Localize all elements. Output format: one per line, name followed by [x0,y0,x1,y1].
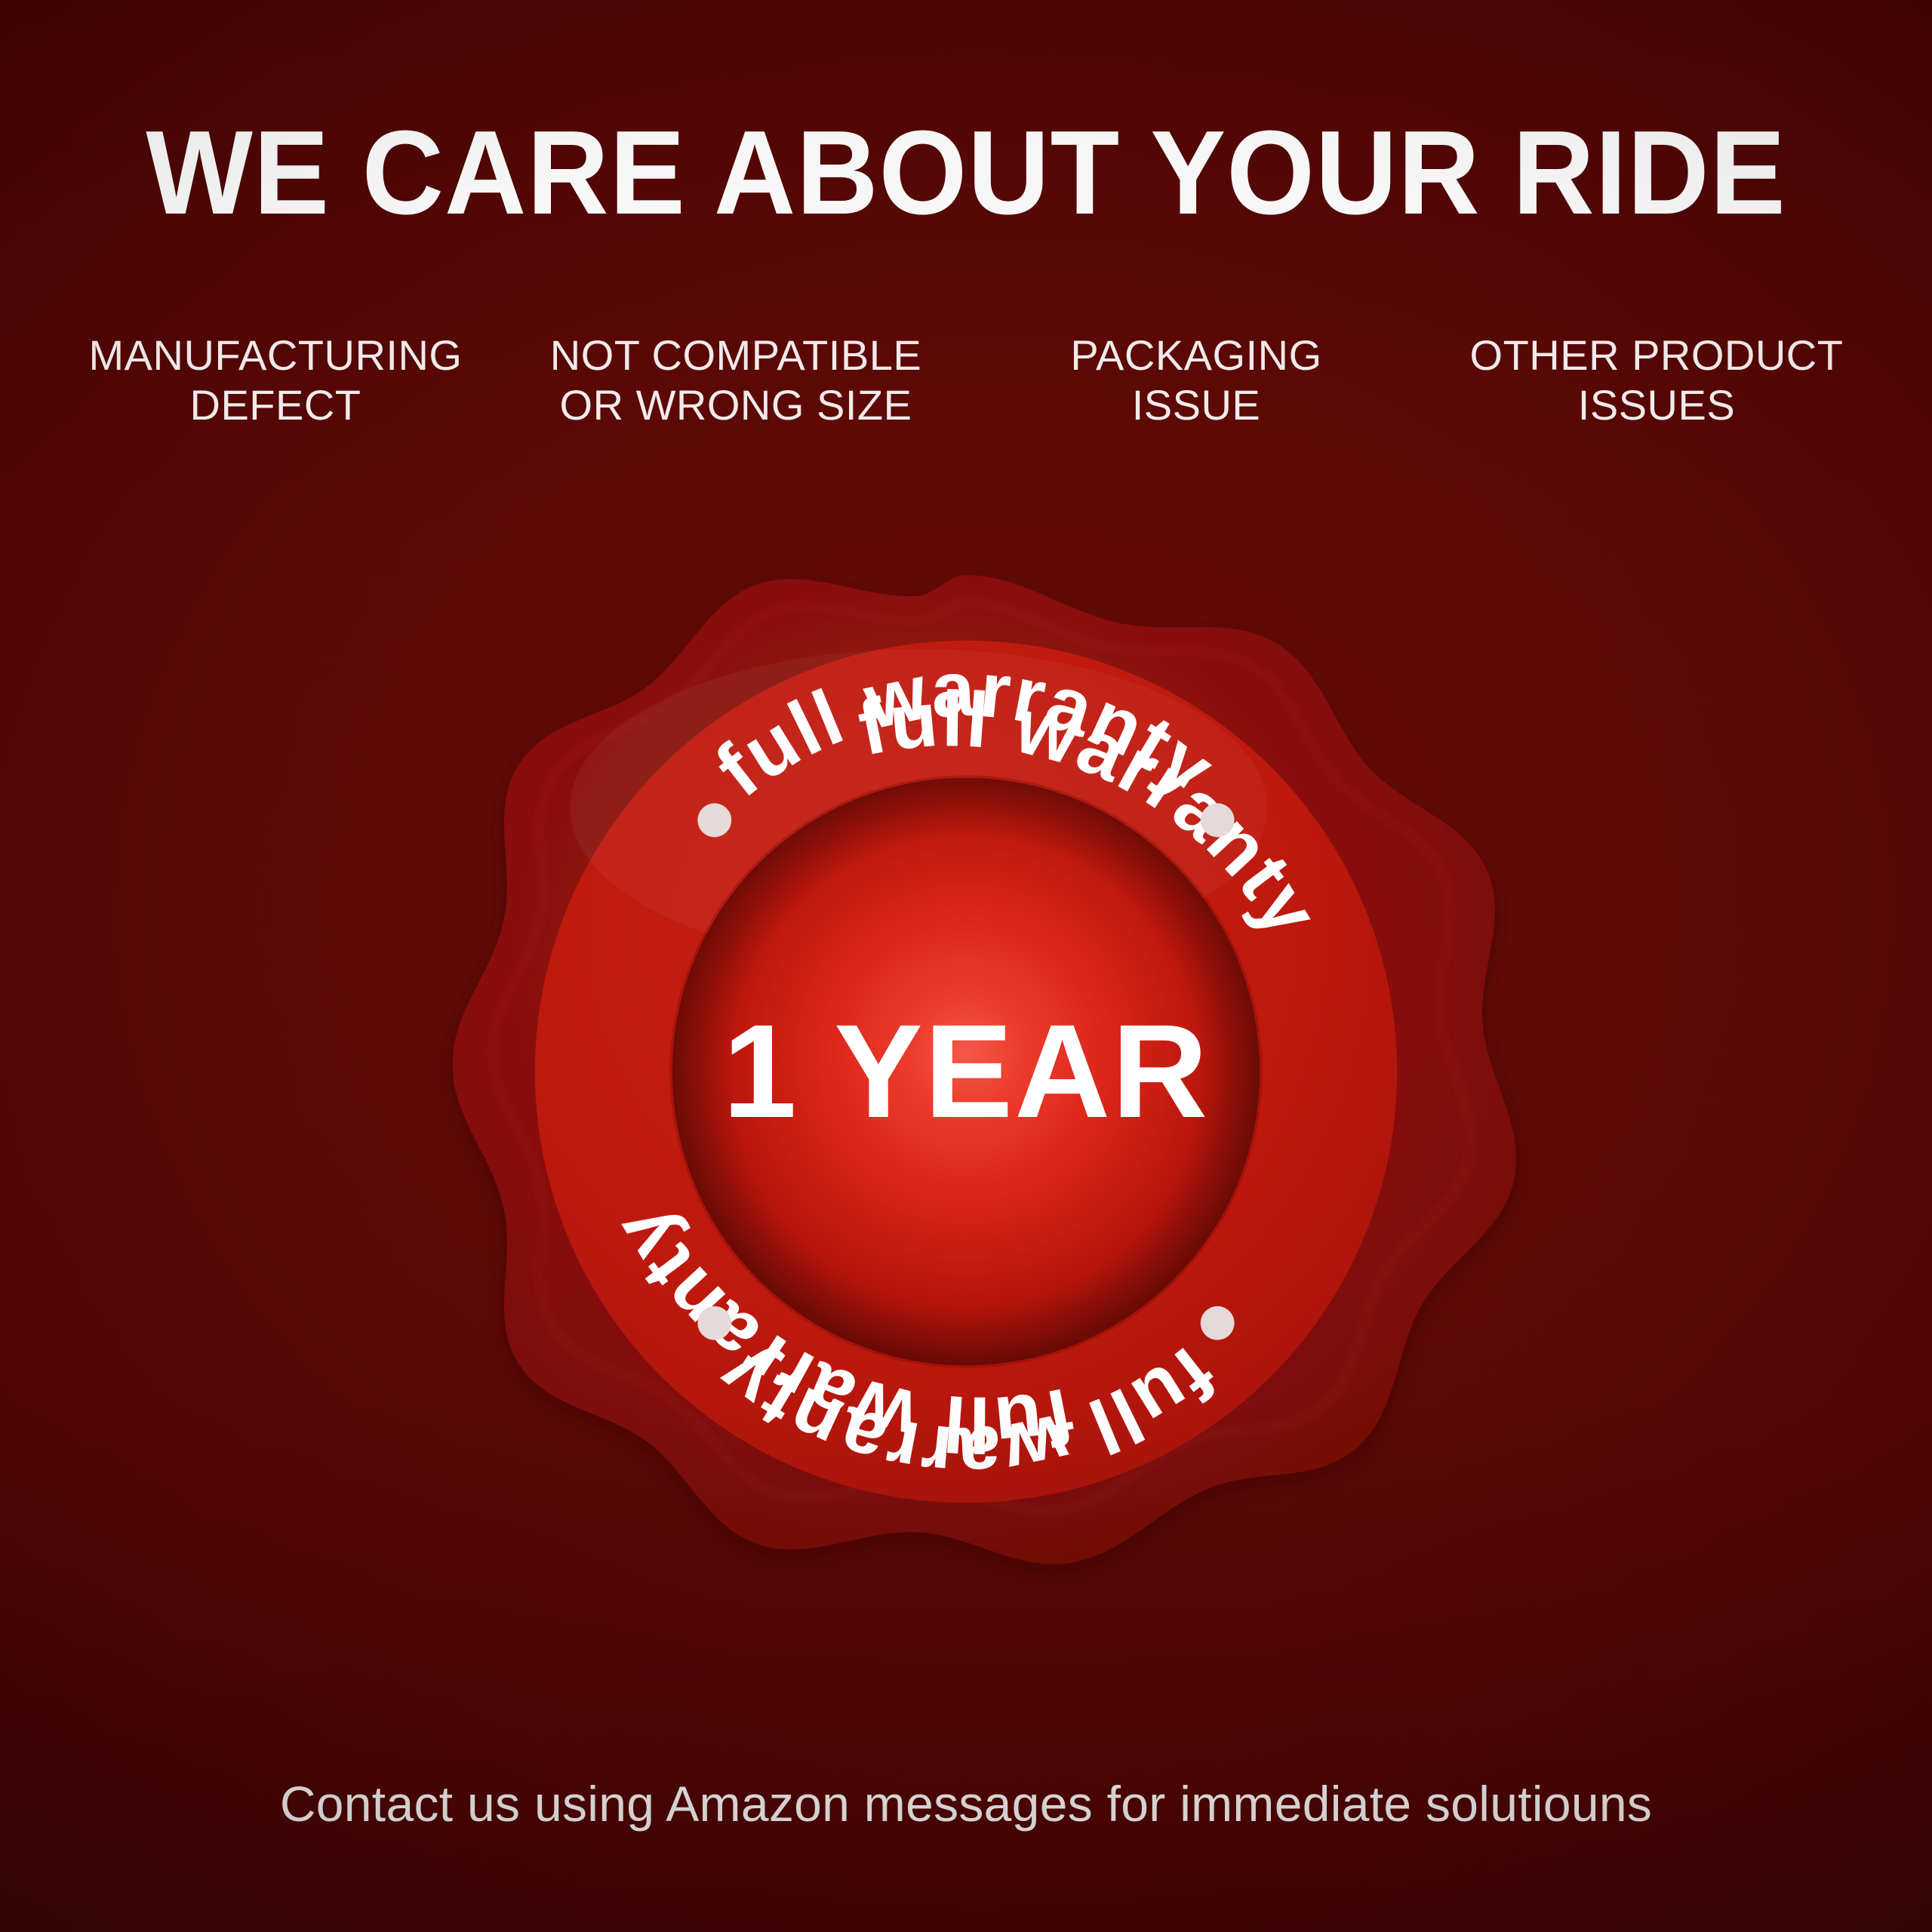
reason-list: MANUFACTURING DEFECT NOT COMPATIBLE OR W… [45,331,1887,430]
badge-inner-disc-shade [672,778,1260,1365]
separator-dot-top-left [697,803,731,837]
reason-item-other-product-issues: OTHER PRODUCT ISSUES [1426,331,1887,430]
separator-dot-bottom-right [1201,1306,1235,1340]
warranty-badge-graphic: full warranty full warranty full warrant… [404,543,1528,1600]
reason-item-packaging-issue: PACKAGING ISSUE [966,331,1426,430]
page-title: WE CARE ABOUT YOUR RIDE [48,113,1884,232]
warranty-infographic: WE CARE ABOUT YOUR RIDE MANUFACTURING DE… [0,0,1932,1932]
warranty-badge: full warranty full warranty full warrant… [404,543,1528,1600]
reason-line-2: ISSUE [971,380,1422,430]
reason-item-not-compatible: NOT COMPATIBLE OR WRONG SIZE [506,331,966,430]
reason-line-1: NOT COMPATIBLE [510,331,961,380]
reason-line-2: DEFECT [50,380,501,430]
reason-line-1: PACKAGING [971,331,1422,380]
reason-line-1: MANUFACTURING [50,331,501,380]
reason-item-manufacturing-defect: MANUFACTURING DEFECT [45,331,506,430]
reason-line-2: ISSUES [1431,380,1882,430]
separator-dot-bottom-left [697,1306,731,1340]
separator-dot-top-right [1201,803,1235,837]
reason-line-2: OR WRONG SIZE [510,380,961,430]
footer-contact-text: Contact us using Amazon messages for imm… [0,1775,1932,1832]
reason-line-1: OTHER PRODUCT [1431,331,1882,380]
